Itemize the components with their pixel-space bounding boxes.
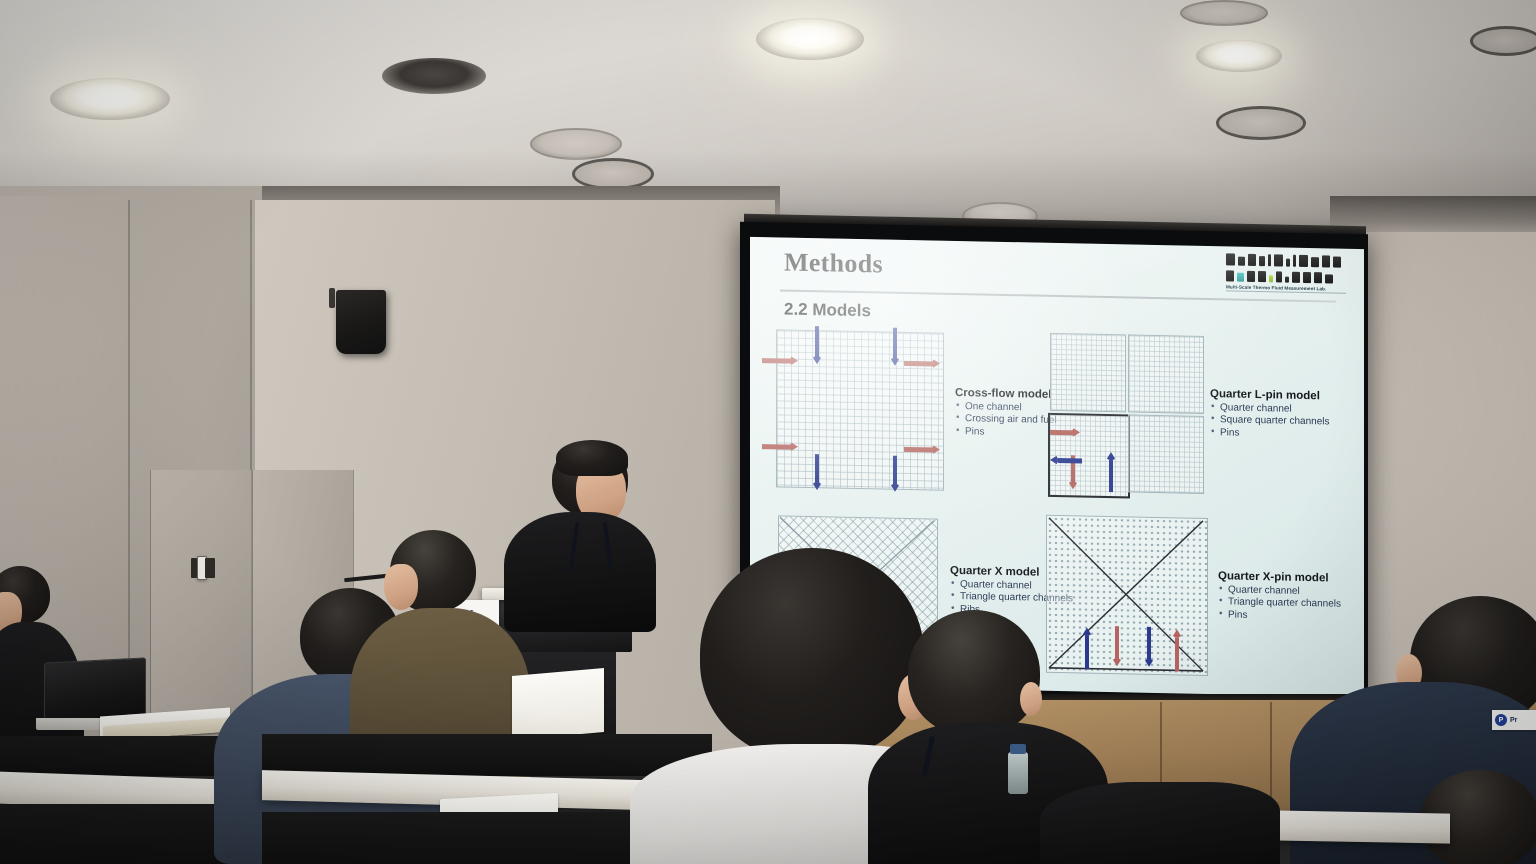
arrow-blue-left	[1050, 455, 1082, 466]
model-label-quarter-x-pin: Quarter X-pin model Quarter channel Tria…	[1218, 570, 1341, 624]
arrow-blue-down	[890, 456, 900, 496]
x-triangle-overlay	[1046, 515, 1206, 674]
arrow-red-right	[904, 358, 944, 369]
arrow-blue-down	[812, 326, 822, 366]
ceiling-vent	[1180, 0, 1268, 26]
arrow-red-right	[762, 355, 802, 366]
slide-title: Methods	[784, 248, 883, 280]
presenter-hair-fringe	[556, 440, 628, 476]
audience-torso	[1040, 782, 1280, 864]
audience-ear	[1020, 682, 1042, 716]
door-left[interactable]	[150, 470, 252, 730]
model-bullets: One channel Crossing air and fuel Pins	[955, 401, 1057, 440]
audience-head	[908, 610, 1040, 736]
ceiling-downlight	[756, 18, 864, 60]
model-label-cross-flow: Cross-flow model One channel Crossing ai…	[955, 387, 1057, 440]
model-title: Quarter X-pin model	[1218, 570, 1341, 584]
arrow-blue-down	[890, 328, 900, 368]
arrow-blue-down	[812, 454, 822, 494]
ceiling-vent-ring	[1216, 106, 1306, 140]
bottle-cap	[1010, 744, 1026, 754]
arrow-red-right	[904, 444, 944, 455]
audience-head	[700, 548, 924, 760]
water-bottle	[1008, 752, 1028, 794]
wall-panel-seam	[128, 200, 130, 700]
table-mid-dark	[262, 734, 712, 776]
model-label-quarter-l-pin: Quarter L-pin model Quarter channel Squa…	[1210, 388, 1330, 442]
model-bullets: Quarter channel Triangle quarter channel…	[1218, 584, 1341, 624]
arrow-red-down	[1112, 626, 1122, 670]
audience-face	[384, 564, 418, 610]
arrow-blue-up	[1082, 628, 1092, 670]
table-under-shadow	[0, 804, 250, 864]
arrow-red-right	[762, 441, 802, 452]
diagram-cross-flow	[776, 329, 944, 490]
ceiling-downlight	[50, 78, 170, 120]
model-title: Cross-flow model	[955, 387, 1057, 401]
presenter-torso	[504, 512, 656, 632]
ceiling-downlight	[1196, 40, 1282, 72]
diagram-quarter-l-pin	[1048, 331, 1204, 498]
model-bullet: Pins	[1218, 609, 1341, 624]
standing-sign: P Pr	[1492, 710, 1536, 730]
slide-section-heading: 2.2 Models	[784, 300, 871, 322]
laptop-paper-right	[512, 668, 604, 740]
screenshot-root: Methods 2.2 Models	[0, 0, 1536, 864]
speaker-mount-arm	[329, 288, 335, 308]
table-right	[1270, 810, 1450, 843]
ceiling-vent	[530, 128, 622, 160]
arrow-red-up	[1172, 629, 1182, 671]
model-bullets: Quarter channel Square quarter channels …	[1210, 402, 1330, 442]
logo-row-top	[1226, 252, 1346, 267]
wall-switch-shadow	[191, 558, 197, 578]
logo-row-bottom	[1226, 268, 1346, 283]
arrow-red-right	[1050, 427, 1084, 438]
wall-outlet[interactable]	[205, 558, 215, 578]
sign-logo-icon: P	[1495, 714, 1507, 726]
ceiling-vent-ring	[1470, 26, 1536, 56]
wall-speaker	[336, 290, 386, 354]
model-bullet: Pins	[955, 426, 1057, 440]
arrow-blue-up	[1106, 452, 1116, 492]
lab-logo: Multi-Scale Thermo Fluid Measurement Lab…	[1226, 252, 1346, 293]
sign-label: Pr	[1510, 717, 1517, 724]
arrow-blue-down	[1144, 627, 1154, 671]
ceiling-downlight-off	[382, 58, 486, 94]
model-title: Quarter L-pin model	[1210, 388, 1330, 402]
model-bullet: Pins	[1210, 427, 1330, 442]
diagram-quarter-x-pin	[1046, 515, 1208, 678]
